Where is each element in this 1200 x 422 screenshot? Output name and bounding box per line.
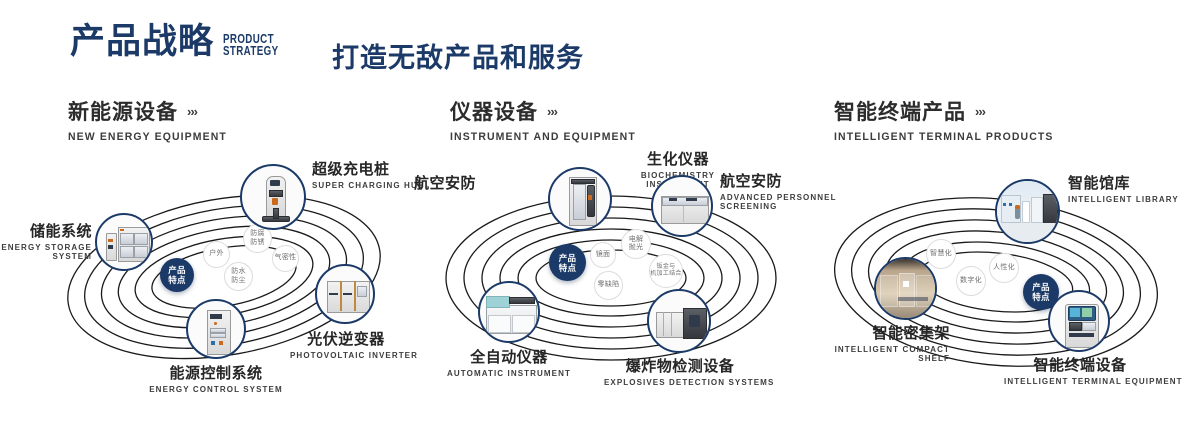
core-feature-bubble: 产品特点 [549,244,586,281]
feature-bubble-zero-defect: 零缺陷 [594,271,623,300]
page-title-en-line2: STRATEGY [223,45,278,57]
biochemistry-photo [550,169,610,229]
core-feature-label: 产品特点 [559,253,577,273]
feature-bubble-humanized: 人性化 [989,253,1019,283]
section-title-cn: 新能源设备 [68,96,178,126]
explosives-detection-photo [649,291,709,351]
diagram-group-instrument: 产品特点 镜面 电解抛光 零缺陷 钣金与机加工结合 生化仪器 BIOCHEMIS… [418,150,818,400]
caption-en: PHOTOVOLTAIC INVERTER [290,351,402,360]
diagram-group-new-energy: 产品特点 户外 防腐防锈 防水防尘 气密性 储能系统 ENERGY STORAG… [28,150,428,400]
node-advanced-personnel-screening[interactable] [651,175,713,237]
core-feature-bubble: 产品特点 [160,258,194,292]
caption-intelligent-terminal-equipment: 智能终端设备 INTELLIGENT TERMINAL EQUIPMENT [1004,354,1156,386]
node-super-charging-hub[interactable] [240,164,306,230]
caption-intelligent-library: 智能馆库 INTELLIGENT LIBRARY [1068,172,1179,204]
intelligent-library-photo [997,181,1058,242]
charging-hub-photo [242,166,304,228]
caption-intelligent-compact-shelf: 智能密集架 INTELLIGENT COMPACT SHELF [802,322,950,363]
pv-inverter-photo [317,266,373,322]
compact-shelf-photo [876,259,935,318]
caption-cn: 智能馆库 [1068,172,1179,193]
section-title-en: INTELLIGENT TERMINAL PRODUCTS [834,131,1054,143]
caption-en: ENERGY STORAGE SYSTEM [0,243,92,261]
caption-explosives-detection-systems: 爆炸物检测设备 EXPLOSIVES DETECTION SYSTEMS [604,355,756,387]
caption-photovoltaic-inverter: 光伏逆变器 PHOTOVOLTAIC INVERTER [290,328,402,360]
caption-cn: 全自动仪器 [436,346,582,367]
caption-aviation-security-left: 航空安防 [414,172,476,193]
caption-cn: 智能密集架 [802,322,950,343]
page-subtitle: 打造无敌产品和服务 [332,36,584,75]
core-feature-label: 产品特点 [1032,282,1050,302]
automatic-instrument-photo [480,283,538,341]
page-title-en: PRODUCT STRATEGY [223,33,278,57]
section-title-en: INSTRUMENT AND EQUIPMENT [450,131,636,143]
chevrons-right-icon: ››› [547,104,557,119]
energy-storage-photo [97,215,151,269]
section-title-en: NEW ENERGY EQUIPMENT [68,131,227,143]
section-title-new-energy: 新能源设备››› NEW ENERGY EQUIPMENT [68,96,227,143]
node-explosives-detection-systems[interactable] [647,289,711,353]
chevrons-right-icon: ››› [187,104,197,119]
node-biochemistry-instrument[interactable] [548,167,612,231]
caption-en: ENERGY CONTROL SYSTEM [142,385,290,394]
caption-cn: 储能系统 [0,220,92,241]
feature-bubble-waterproof: 防水防尘 [224,262,253,291]
section-title-instrument: 仪器设备››› INSTRUMENT AND EQUIPMENT [450,96,636,143]
caption-en: INTELLIGENT COMPACT SHELF [802,345,950,363]
poster-canvas: 产品战略 PRODUCT STRATEGY 打造无敌产品和服务 新能源设备›››… [0,0,1200,422]
feature-bubble-sheetmetal-machining: 钣金与机加工结合 [649,254,683,288]
node-photovoltaic-inverter[interactable] [315,264,375,324]
feature-bubble-outdoor: 户外 [203,241,230,268]
node-energy-storage-system[interactable] [95,213,153,271]
caption-cn: 智能终端设备 [1004,354,1156,375]
page-title: 产品战略 [70,24,214,59]
caption-en: AUTOMATIC INSTRUMENT [436,369,582,378]
caption-cn: 生化仪器 [608,148,748,169]
section-title-cn: 仪器设备 [450,96,538,126]
feature-bubble-airtight: 气密性 [272,245,299,272]
poster-header: 产品战略 PRODUCT STRATEGY [70,24,294,59]
node-intelligent-terminal-equipment[interactable] [1048,290,1110,352]
section-title-cn: 智能终端产品 [834,96,966,126]
node-intelligent-compact-shelf[interactable] [874,257,937,320]
diagram-group-intelligent: 智慧化 数字化 人性化 产品特点 智能馆库 INTELLIGENT LIBRA [808,150,1200,400]
caption-cn: 超级充电桩 [312,158,425,179]
screening-photo [653,177,711,235]
caption-cn: 光伏逆变器 [290,328,402,349]
caption-cn: 能源控制系统 [142,362,290,383]
node-automatic-instrument[interactable] [478,281,540,343]
node-energy-control-system[interactable] [186,299,246,359]
caption-super-charging-hub: 超级充电桩 SUPER CHARGING HUB [312,158,425,190]
caption-en: EXPLOSIVES DETECTION SYSTEMS [604,378,756,387]
feature-bubble-mirror: 镜面 [590,242,616,268]
energy-control-photo [188,301,244,357]
caption-en: INTELLIGENT LIBRARY [1068,195,1179,204]
feature-bubble-digital: 数字化 [956,266,986,296]
feature-bubble-electropolish: 电解抛光 [621,229,651,259]
caption-automatic-instrument: 全自动仪器 AUTOMATIC INSTRUMENT [436,346,582,378]
caption-en: SUPER CHARGING HUB [312,181,425,190]
core-feature-label: 产品特点 [168,265,186,285]
caption-energy-storage-system: 储能系统 ENERGY STORAGE SYSTEM [0,220,92,261]
caption-en: INTELLIGENT TERMINAL EQUIPMENT [1004,377,1156,386]
caption-cn: 航空安防 [414,172,476,193]
caption-cn: 爆炸物检测设备 [604,355,756,376]
caption-energy-control-system: 能源控制系统 ENERGY CONTROL SYSTEM [142,362,290,394]
intelligent-terminal-photo [1050,292,1108,350]
node-intelligent-library[interactable] [995,179,1060,244]
chevrons-right-icon: ››› [975,104,985,119]
section-title-intelligent: 智能终端产品››› INTELLIGENT TERMINAL PRODUCTS [834,96,1054,143]
